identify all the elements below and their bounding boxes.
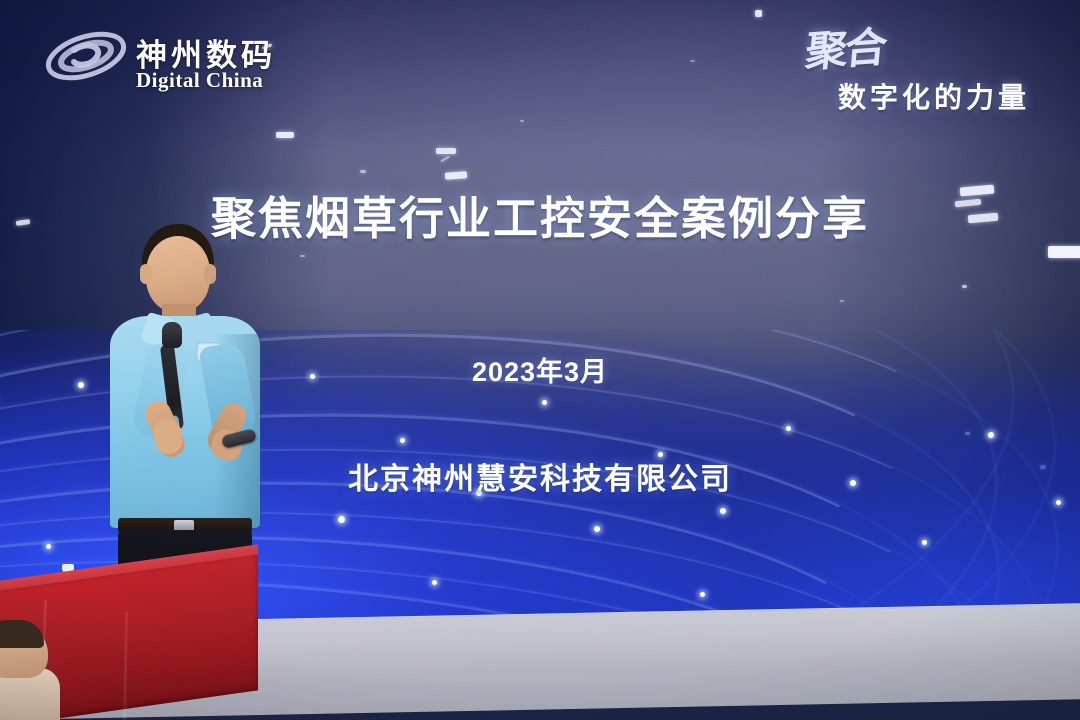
digital-china-swirl-icon: [44, 24, 128, 88]
brand-logo-digital-china: 神州数码 Digital China: [44, 18, 294, 94]
theme-calligraphy: 聚合: [803, 13, 887, 79]
conference-stage-photo: 聚焦烟草行业工控安全案例分享 2023年3月 北京神州慧安科技有限公司 神州数码…: [0, 0, 1080, 720]
theme-subtitle: 数字化的力量: [838, 76, 1030, 116]
brand-name-en: Digital China: [136, 68, 263, 93]
presenter-ear-left: [140, 264, 152, 284]
event-theme-logo: 聚合 数字化的力量: [798, 16, 1058, 112]
presenter-ear-right: [204, 264, 216, 284]
microphone-head-icon: [162, 322, 182, 348]
presenter-head: [146, 236, 210, 312]
